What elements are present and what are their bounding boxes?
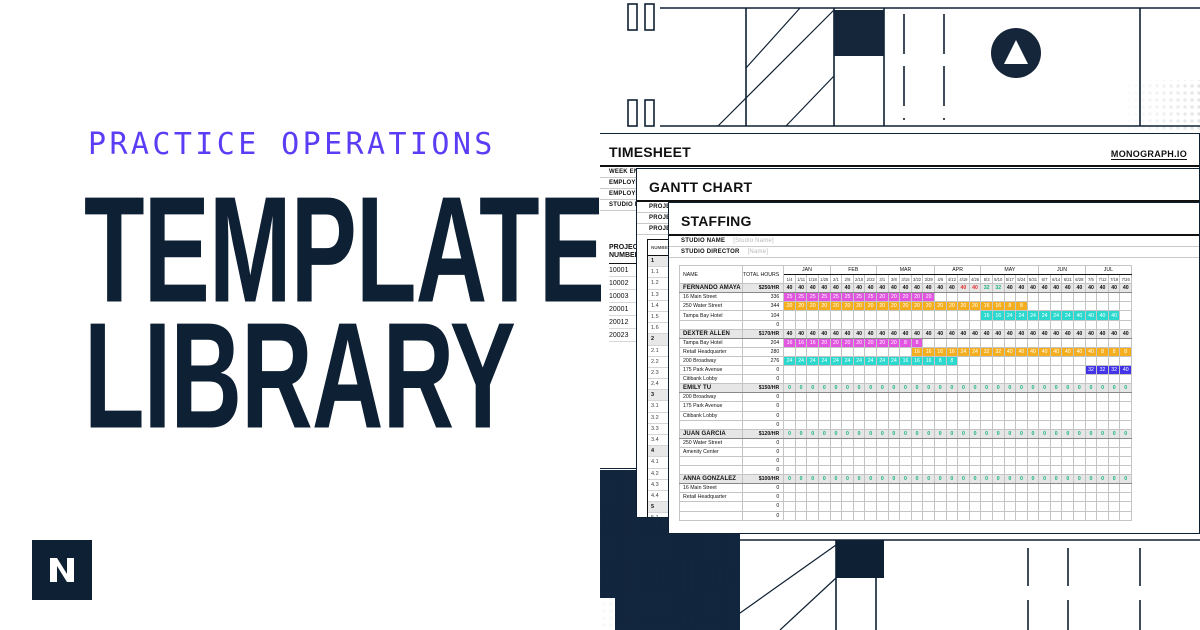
allocation-cell[interactable] bbox=[992, 375, 1004, 384]
allocation-cell[interactable] bbox=[819, 420, 831, 429]
allocation-cell[interactable] bbox=[784, 447, 796, 456]
allocation-cell[interactable] bbox=[1085, 502, 1097, 511]
allocation-cell[interactable]: 20 bbox=[888, 302, 900, 311]
allocation-cell[interactable]: 20 bbox=[876, 338, 888, 347]
allocation-cell[interactable] bbox=[1004, 293, 1016, 302]
allocation-cell[interactable]: 25 bbox=[830, 293, 842, 302]
allocation-cell[interactable] bbox=[1108, 484, 1120, 493]
allocation-cell[interactable] bbox=[934, 375, 946, 384]
allocation-cell[interactable] bbox=[807, 456, 819, 465]
allocation-cell[interactable]: 8 bbox=[1108, 347, 1120, 356]
allocation-cell[interactable] bbox=[1050, 402, 1062, 411]
allocation-cell[interactable]: 40 bbox=[1027, 347, 1039, 356]
allocation-cell[interactable] bbox=[819, 456, 831, 465]
allocation-cell[interactable] bbox=[842, 447, 854, 456]
project-label[interactable] bbox=[680, 320, 743, 329]
allocation-cell[interactable] bbox=[1120, 420, 1132, 429]
allocation-cell[interactable] bbox=[1097, 511, 1109, 520]
allocation-cell[interactable] bbox=[1120, 438, 1132, 447]
allocation-cell[interactable]: 32 bbox=[981, 347, 993, 356]
allocation-cell[interactable] bbox=[1062, 356, 1074, 365]
allocation-cell[interactable] bbox=[981, 420, 993, 429]
allocation-cell[interactable] bbox=[958, 375, 970, 384]
allocation-cell[interactable] bbox=[1016, 493, 1028, 502]
allocation-cell[interactable] bbox=[934, 393, 946, 402]
allocation-cell[interactable] bbox=[1050, 484, 1062, 493]
allocation-cell[interactable] bbox=[1097, 320, 1109, 329]
allocation-cell[interactable] bbox=[981, 375, 993, 384]
allocation-cell[interactable]: 24 bbox=[842, 356, 854, 365]
allocation-cell[interactable] bbox=[1097, 356, 1109, 365]
allocation-cell[interactable] bbox=[784, 402, 796, 411]
allocation-cell[interactable]: 24 bbox=[888, 356, 900, 365]
allocation-cell[interactable]: 24 bbox=[876, 356, 888, 365]
allocation-cell[interactable] bbox=[1074, 447, 1086, 456]
allocation-cell[interactable]: 20 bbox=[888, 338, 900, 347]
allocation-cell[interactable] bbox=[853, 393, 865, 402]
allocation-cell[interactable] bbox=[842, 511, 854, 520]
allocation-cell[interactable] bbox=[923, 402, 935, 411]
allocation-cell[interactable] bbox=[795, 320, 807, 329]
allocation-cell[interactable]: 16 bbox=[992, 311, 1004, 320]
allocation-cell[interactable] bbox=[1108, 356, 1120, 365]
allocation-cell[interactable] bbox=[958, 320, 970, 329]
allocation-cell[interactable] bbox=[795, 311, 807, 320]
allocation-cell[interactable] bbox=[1085, 402, 1097, 411]
allocation-cell[interactable]: 24 bbox=[1004, 311, 1016, 320]
allocation-cell[interactable] bbox=[1074, 302, 1086, 311]
allocation-cell[interactable] bbox=[807, 411, 819, 420]
allocation-cell[interactable] bbox=[1097, 493, 1109, 502]
allocation-cell[interactable]: 8 bbox=[1004, 302, 1016, 311]
allocation-cell[interactable] bbox=[1039, 411, 1051, 420]
allocation-cell[interactable] bbox=[830, 484, 842, 493]
staff-name[interactable]: JUAN GARCIA bbox=[680, 429, 743, 438]
allocation-cell[interactable] bbox=[934, 311, 946, 320]
allocation-cell[interactable] bbox=[1016, 420, 1028, 429]
allocation-cell[interactable]: 16 bbox=[807, 338, 819, 347]
allocation-cell[interactable] bbox=[911, 484, 923, 493]
allocation-cell[interactable] bbox=[1004, 411, 1016, 420]
allocation-cell[interactable] bbox=[807, 511, 819, 520]
allocation-cell[interactable] bbox=[888, 393, 900, 402]
allocation-cell[interactable] bbox=[946, 375, 958, 384]
allocation-cell[interactable] bbox=[784, 366, 796, 375]
allocation-cell[interactable]: 20 bbox=[853, 338, 865, 347]
allocation-cell[interactable] bbox=[888, 438, 900, 447]
allocation-cell[interactable] bbox=[819, 466, 831, 475]
allocation-cell[interactable]: 20 bbox=[958, 302, 970, 311]
allocation-cell[interactable] bbox=[876, 466, 888, 475]
allocation-cell[interactable] bbox=[1062, 511, 1074, 520]
allocation-cell[interactable] bbox=[784, 493, 796, 502]
allocation-cell[interactable] bbox=[842, 411, 854, 420]
allocation-cell[interactable] bbox=[946, 393, 958, 402]
allocation-cell[interactable] bbox=[911, 466, 923, 475]
allocation-cell[interactable] bbox=[969, 484, 981, 493]
allocation-cell[interactable]: 20 bbox=[784, 302, 796, 311]
allocation-cell[interactable] bbox=[1074, 466, 1086, 475]
allocation-cell[interactable]: 16 bbox=[923, 356, 935, 365]
allocation-cell[interactable] bbox=[1108, 420, 1120, 429]
allocation-cell[interactable] bbox=[1050, 293, 1062, 302]
allocation-cell[interactable] bbox=[1085, 493, 1097, 502]
allocation-cell[interactable] bbox=[1120, 493, 1132, 502]
allocation-cell[interactable] bbox=[900, 438, 912, 447]
allocation-cell[interactable]: 24 bbox=[969, 347, 981, 356]
allocation-cell[interactable] bbox=[807, 502, 819, 511]
allocation-cell[interactable]: 24 bbox=[784, 356, 796, 365]
allocation-cell[interactable] bbox=[1108, 511, 1120, 520]
allocation-cell[interactable] bbox=[1085, 438, 1097, 447]
allocation-cell[interactable] bbox=[958, 420, 970, 429]
allocation-cell[interactable] bbox=[865, 502, 877, 511]
allocation-cell[interactable] bbox=[911, 402, 923, 411]
allocation-cell[interactable] bbox=[946, 447, 958, 456]
allocation-cell[interactable]: 24 bbox=[1039, 311, 1051, 320]
allocation-cell[interactable]: 24 bbox=[807, 356, 819, 365]
allocation-cell[interactable] bbox=[1108, 293, 1120, 302]
allocation-cell[interactable] bbox=[1004, 493, 1016, 502]
field-value[interactable]: [Studio Name] bbox=[733, 238, 1187, 244]
allocation-cell[interactable] bbox=[1108, 502, 1120, 511]
allocation-cell[interactable]: 20 bbox=[853, 302, 865, 311]
allocation-cell[interactable] bbox=[1039, 302, 1051, 311]
allocation-cell[interactable] bbox=[1039, 493, 1051, 502]
allocation-cell[interactable]: 8 bbox=[911, 338, 923, 347]
allocation-cell[interactable] bbox=[795, 411, 807, 420]
allocation-cell[interactable] bbox=[1039, 447, 1051, 456]
allocation-cell[interactable] bbox=[1039, 420, 1051, 429]
allocation-cell[interactable] bbox=[865, 438, 877, 447]
allocation-cell[interactable] bbox=[1027, 393, 1039, 402]
allocation-cell[interactable] bbox=[1004, 456, 1016, 465]
allocation-cell[interactable] bbox=[1050, 320, 1062, 329]
allocation-cell[interactable] bbox=[1027, 338, 1039, 347]
allocation-cell[interactable] bbox=[888, 456, 900, 465]
allocation-cell[interactable] bbox=[923, 320, 935, 329]
allocation-cell[interactable] bbox=[1016, 393, 1028, 402]
allocation-cell[interactable]: 16 bbox=[795, 338, 807, 347]
allocation-cell[interactable] bbox=[958, 438, 970, 447]
allocation-cell[interactable] bbox=[981, 438, 993, 447]
allocation-cell[interactable] bbox=[888, 484, 900, 493]
allocation-cell[interactable] bbox=[1120, 402, 1132, 411]
allocation-cell[interactable]: 40 bbox=[1016, 347, 1028, 356]
allocation-cell[interactable] bbox=[819, 411, 831, 420]
allocation-cell[interactable] bbox=[981, 511, 993, 520]
allocation-cell[interactable] bbox=[1074, 338, 1086, 347]
allocation-cell[interactable] bbox=[911, 366, 923, 375]
project-label[interactable]: 175 Park Avenue bbox=[680, 366, 743, 375]
allocation-cell[interactable] bbox=[981, 502, 993, 511]
allocation-cell[interactable] bbox=[969, 311, 981, 320]
allocation-cell[interactable] bbox=[1085, 447, 1097, 456]
allocation-cell[interactable] bbox=[842, 438, 854, 447]
allocation-cell[interactable] bbox=[807, 447, 819, 456]
allocation-cell[interactable] bbox=[1039, 393, 1051, 402]
allocation-cell[interactable] bbox=[1120, 447, 1132, 456]
allocation-cell[interactable] bbox=[830, 402, 842, 411]
allocation-cell[interactable] bbox=[1097, 375, 1109, 384]
allocation-cell[interactable] bbox=[1027, 411, 1039, 420]
allocation-cell[interactable] bbox=[1004, 402, 1016, 411]
allocation-cell[interactable]: 40 bbox=[1050, 347, 1062, 356]
allocation-cell[interactable] bbox=[1074, 293, 1086, 302]
allocation-cell[interactable] bbox=[992, 511, 1004, 520]
allocation-cell[interactable] bbox=[1039, 502, 1051, 511]
allocation-cell[interactable] bbox=[1085, 320, 1097, 329]
allocation-cell[interactable] bbox=[1027, 484, 1039, 493]
allocation-cell[interactable] bbox=[934, 493, 946, 502]
allocation-cell[interactable] bbox=[911, 456, 923, 465]
allocation-cell[interactable] bbox=[842, 366, 854, 375]
allocation-cell[interactable] bbox=[981, 411, 993, 420]
allocation-cell[interactable] bbox=[807, 366, 819, 375]
allocation-cell[interactable]: 24 bbox=[819, 356, 831, 365]
allocation-cell[interactable] bbox=[1050, 502, 1062, 511]
allocation-cell[interactable] bbox=[830, 466, 842, 475]
allocation-cell[interactable] bbox=[876, 484, 888, 493]
allocation-cell[interactable] bbox=[992, 320, 1004, 329]
allocation-cell[interactable] bbox=[1097, 466, 1109, 475]
allocation-cell[interactable] bbox=[1120, 411, 1132, 420]
allocation-cell[interactable] bbox=[784, 375, 796, 384]
allocation-cell[interactable] bbox=[842, 375, 854, 384]
project-label[interactable]: 250 Water Street bbox=[680, 438, 743, 447]
allocation-cell[interactable] bbox=[853, 402, 865, 411]
allocation-cell[interactable] bbox=[1050, 375, 1062, 384]
staff-name[interactable]: EMILY TU bbox=[680, 384, 743, 393]
allocation-cell[interactable] bbox=[784, 456, 796, 465]
allocation-cell[interactable] bbox=[992, 466, 1004, 475]
allocation-cell[interactable]: 20 bbox=[876, 302, 888, 311]
allocation-cell[interactable] bbox=[807, 484, 819, 493]
allocation-cell[interactable] bbox=[969, 438, 981, 447]
allocation-cell[interactable] bbox=[876, 393, 888, 402]
allocation-cell[interactable]: 40 bbox=[1085, 311, 1097, 320]
allocation-cell[interactable]: 8 bbox=[946, 356, 958, 365]
allocation-cell[interactable] bbox=[1108, 320, 1120, 329]
allocation-cell[interactable] bbox=[946, 420, 958, 429]
allocation-cell[interactable] bbox=[1062, 447, 1074, 456]
allocation-cell[interactable] bbox=[819, 347, 831, 356]
allocation-cell[interactable] bbox=[876, 438, 888, 447]
allocation-cell[interactable] bbox=[900, 411, 912, 420]
allocation-cell[interactable] bbox=[807, 493, 819, 502]
allocation-cell[interactable]: 8 bbox=[1097, 347, 1109, 356]
allocation-cell[interactable] bbox=[946, 311, 958, 320]
allocation-cell[interactable]: 24 bbox=[865, 356, 877, 365]
allocation-cell[interactable]: 16 bbox=[900, 356, 912, 365]
allocation-cell[interactable] bbox=[865, 375, 877, 384]
allocation-cell[interactable] bbox=[1050, 493, 1062, 502]
allocation-cell[interactable] bbox=[958, 366, 970, 375]
allocation-cell[interactable] bbox=[830, 447, 842, 456]
allocation-cell[interactable] bbox=[807, 466, 819, 475]
allocation-cell[interactable] bbox=[795, 466, 807, 475]
allocation-cell[interactable] bbox=[830, 393, 842, 402]
allocation-cell[interactable] bbox=[923, 393, 935, 402]
allocation-cell[interactable]: 20 bbox=[900, 302, 912, 311]
allocation-cell[interactable]: 20 bbox=[946, 302, 958, 311]
allocation-cell[interactable] bbox=[853, 311, 865, 320]
allocation-cell[interactable] bbox=[807, 393, 819, 402]
allocation-cell[interactable] bbox=[888, 402, 900, 411]
allocation-cell[interactable] bbox=[876, 402, 888, 411]
allocation-cell[interactable] bbox=[1050, 411, 1062, 420]
allocation-cell[interactable] bbox=[842, 502, 854, 511]
allocation-cell[interactable] bbox=[842, 484, 854, 493]
allocation-cell[interactable] bbox=[1004, 356, 1016, 365]
allocation-cell[interactable] bbox=[981, 466, 993, 475]
allocation-cell[interactable]: 40 bbox=[1039, 347, 1051, 356]
allocation-cell[interactable] bbox=[865, 484, 877, 493]
allocation-cell[interactable] bbox=[900, 347, 912, 356]
allocation-cell[interactable] bbox=[1050, 302, 1062, 311]
allocation-cell[interactable] bbox=[981, 320, 993, 329]
allocation-cell[interactable] bbox=[958, 411, 970, 420]
allocation-cell[interactable] bbox=[958, 402, 970, 411]
allocation-cell[interactable]: 20 bbox=[969, 302, 981, 311]
allocation-cell[interactable] bbox=[923, 420, 935, 429]
allocation-cell[interactable] bbox=[992, 411, 1004, 420]
allocation-cell[interactable]: 24 bbox=[1016, 311, 1028, 320]
allocation-cell[interactable]: 32 bbox=[1085, 366, 1097, 375]
allocation-cell[interactable] bbox=[795, 438, 807, 447]
allocation-cell[interactable] bbox=[1097, 293, 1109, 302]
allocation-cell[interactable] bbox=[1085, 456, 1097, 465]
allocation-cell[interactable] bbox=[1120, 356, 1132, 365]
project-label[interactable]: Tampa Bay Hotel bbox=[680, 311, 743, 320]
allocation-cell[interactable] bbox=[1050, 356, 1062, 365]
allocation-cell[interactable] bbox=[969, 293, 981, 302]
allocation-cell[interactable]: 40 bbox=[1074, 347, 1086, 356]
allocation-cell[interactable] bbox=[958, 311, 970, 320]
project-label[interactable]: Tampa Bay Hotel bbox=[680, 338, 743, 347]
allocation-cell[interactable] bbox=[969, 511, 981, 520]
allocation-cell[interactable]: 20 bbox=[911, 302, 923, 311]
allocation-cell[interactable] bbox=[1120, 393, 1132, 402]
allocation-cell[interactable] bbox=[819, 402, 831, 411]
allocation-cell[interactable] bbox=[1004, 511, 1016, 520]
allocation-cell[interactable] bbox=[1062, 466, 1074, 475]
project-label[interactable] bbox=[680, 511, 743, 520]
allocation-cell[interactable] bbox=[1097, 402, 1109, 411]
allocation-cell[interactable] bbox=[1039, 320, 1051, 329]
allocation-cell[interactable] bbox=[923, 338, 935, 347]
allocation-cell[interactable] bbox=[819, 320, 831, 329]
allocation-cell[interactable] bbox=[1027, 466, 1039, 475]
allocation-cell[interactable] bbox=[842, 402, 854, 411]
allocation-cell[interactable] bbox=[1097, 438, 1109, 447]
allocation-cell[interactable] bbox=[969, 493, 981, 502]
allocation-cell[interactable] bbox=[1027, 356, 1039, 365]
allocation-cell[interactable] bbox=[1074, 375, 1086, 384]
allocation-cell[interactable] bbox=[888, 493, 900, 502]
allocation-cell[interactable] bbox=[1074, 511, 1086, 520]
allocation-cell[interactable]: 8 bbox=[934, 356, 946, 365]
allocation-cell[interactable] bbox=[934, 456, 946, 465]
allocation-cell[interactable]: 20 bbox=[876, 293, 888, 302]
allocation-cell[interactable] bbox=[992, 366, 1004, 375]
allocation-cell[interactable] bbox=[1062, 293, 1074, 302]
allocation-cell[interactable] bbox=[946, 502, 958, 511]
staff-name[interactable]: ANNA GONZALEZ bbox=[680, 475, 743, 484]
allocation-cell[interactable] bbox=[1039, 511, 1051, 520]
project-label[interactable]: 200 Broadway bbox=[680, 393, 743, 402]
allocation-cell[interactable] bbox=[784, 484, 796, 493]
allocation-cell[interactable] bbox=[888, 320, 900, 329]
allocation-cell[interactable] bbox=[911, 375, 923, 384]
allocation-cell[interactable]: 16 bbox=[981, 302, 993, 311]
allocation-cell[interactable] bbox=[923, 311, 935, 320]
allocation-cell[interactable]: 24 bbox=[830, 356, 842, 365]
allocation-cell[interactable] bbox=[981, 447, 993, 456]
allocation-cell[interactable] bbox=[1097, 456, 1109, 465]
allocation-cell[interactable] bbox=[1004, 438, 1016, 447]
allocation-cell[interactable] bbox=[969, 338, 981, 347]
allocation-cell[interactable] bbox=[1004, 484, 1016, 493]
allocation-cell[interactable] bbox=[876, 511, 888, 520]
allocation-cell[interactable]: 24 bbox=[853, 356, 865, 365]
allocation-cell[interactable] bbox=[1050, 438, 1062, 447]
allocation-cell[interactable] bbox=[1039, 338, 1051, 347]
document-staffing[interactable]: STAFFING STUDIO NAME [Studio Name] STUDI… bbox=[668, 202, 1200, 534]
allocation-cell[interactable] bbox=[1074, 493, 1086, 502]
allocation-cell[interactable] bbox=[923, 466, 935, 475]
project-label[interactable] bbox=[680, 456, 743, 465]
allocation-cell[interactable] bbox=[900, 502, 912, 511]
allocation-cell[interactable] bbox=[946, 320, 958, 329]
allocation-cell[interactable] bbox=[784, 347, 796, 356]
allocation-cell[interactable] bbox=[1108, 447, 1120, 456]
allocation-cell[interactable] bbox=[911, 438, 923, 447]
allocation-cell[interactable] bbox=[1016, 366, 1028, 375]
allocation-cell[interactable] bbox=[784, 311, 796, 320]
allocation-cell[interactable] bbox=[1050, 456, 1062, 465]
project-label[interactable] bbox=[680, 466, 743, 475]
allocation-cell[interactable] bbox=[992, 393, 1004, 402]
allocation-cell[interactable] bbox=[923, 438, 935, 447]
allocation-cell[interactable] bbox=[1062, 320, 1074, 329]
allocation-cell[interactable] bbox=[946, 466, 958, 475]
allocation-cell[interactable] bbox=[1120, 302, 1132, 311]
allocation-cell[interactable] bbox=[1108, 466, 1120, 475]
allocation-cell[interactable] bbox=[795, 447, 807, 456]
allocation-cell[interactable] bbox=[1062, 411, 1074, 420]
allocation-cell[interactable] bbox=[1074, 411, 1086, 420]
allocation-cell[interactable] bbox=[1027, 402, 1039, 411]
allocation-cell[interactable]: 16 bbox=[934, 347, 946, 356]
allocation-cell[interactable] bbox=[1074, 502, 1086, 511]
allocation-cell[interactable] bbox=[1108, 302, 1120, 311]
staffing-table[interactable]: NAMETOTAL HOURSJANFEBMARAPRMAYJUNJUL1/41… bbox=[679, 265, 1199, 521]
allocation-cell[interactable] bbox=[981, 393, 993, 402]
allocation-cell[interactable] bbox=[795, 484, 807, 493]
allocation-cell[interactable] bbox=[1004, 502, 1016, 511]
allocation-cell[interactable] bbox=[1085, 375, 1097, 384]
allocation-cell[interactable] bbox=[865, 493, 877, 502]
allocation-cell[interactable] bbox=[1016, 402, 1028, 411]
allocation-cell[interactable] bbox=[853, 466, 865, 475]
allocation-cell[interactable] bbox=[784, 320, 796, 329]
allocation-cell[interactable] bbox=[958, 493, 970, 502]
allocation-cell[interactable] bbox=[900, 311, 912, 320]
allocation-cell[interactable] bbox=[1016, 466, 1028, 475]
allocation-cell[interactable] bbox=[1097, 447, 1109, 456]
allocation-cell[interactable] bbox=[853, 366, 865, 375]
